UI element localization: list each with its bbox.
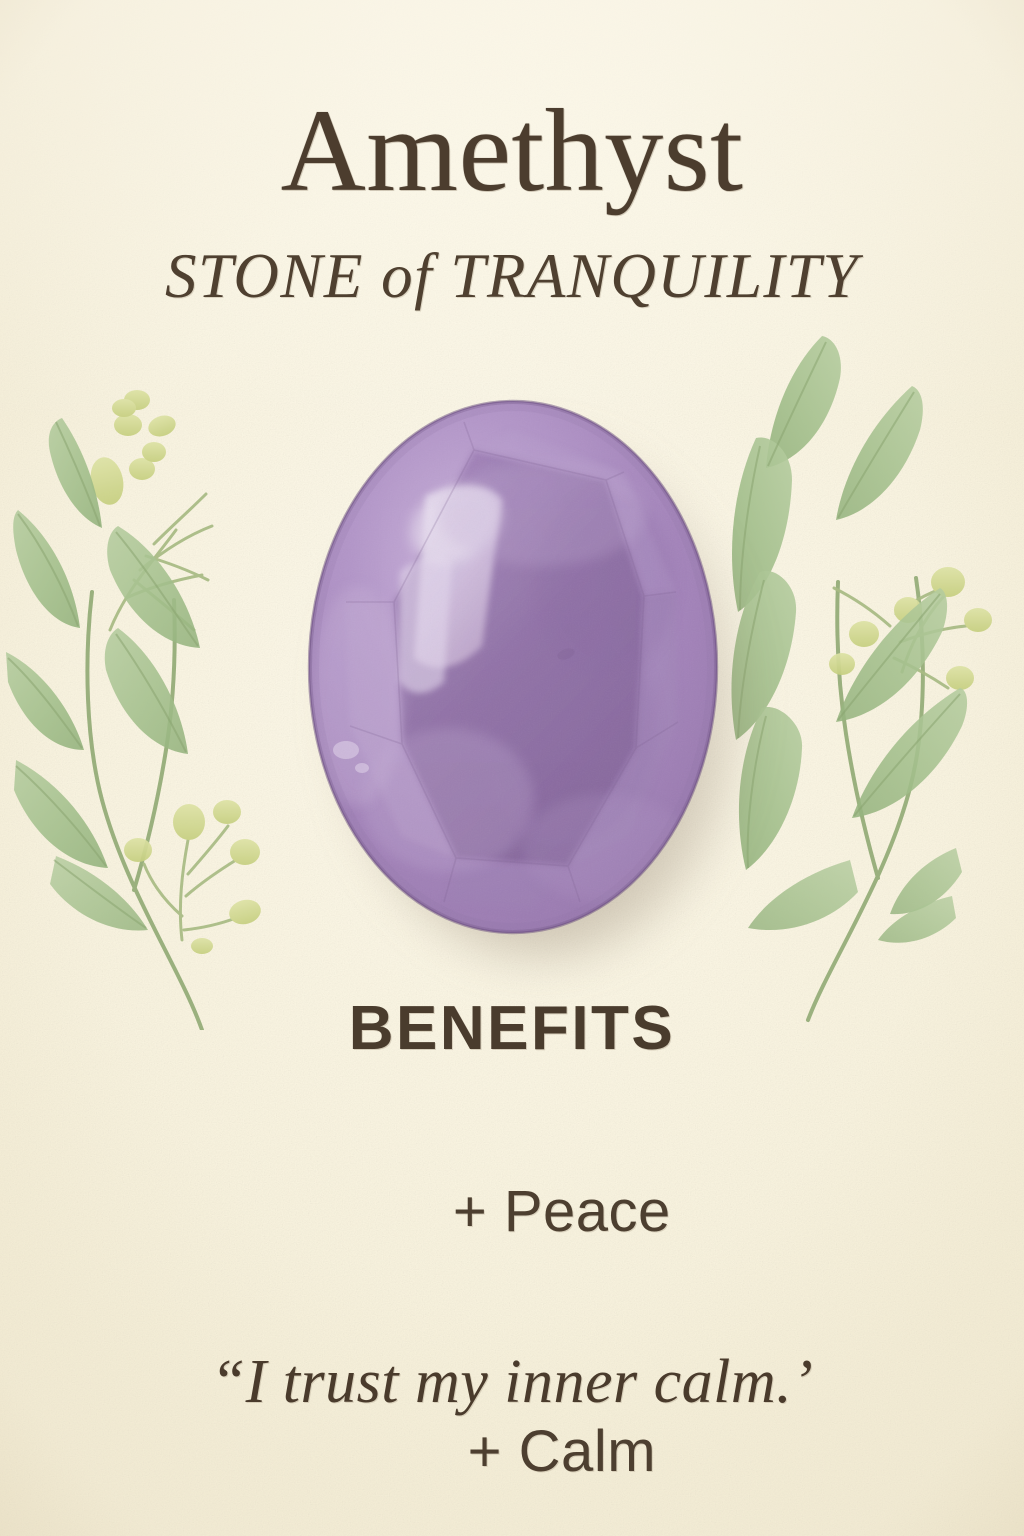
gemstone-container xyxy=(306,396,720,938)
amethyst-crystal-card: Amethyst STONE of TRANQUILITY BENEFITS +… xyxy=(0,0,1024,1536)
botanical-sprig-left-icon xyxy=(6,330,306,1030)
botanical-sprig-right-icon xyxy=(718,300,1018,1040)
benefit-marker-calm: + xyxy=(468,1419,502,1484)
card-title: Amethyst xyxy=(0,92,1024,210)
benefit-marker-peace: + xyxy=(453,1179,487,1244)
amethyst-gemstone-icon xyxy=(306,396,720,938)
card-subtitle: STONE of TRANQUILITY xyxy=(0,245,1024,308)
affirmation-quote: “I trust my inner calm.’ xyxy=(0,1350,1024,1415)
benefit-item-peace: + Peace xyxy=(0,1092,1024,1332)
benefit-label-calm: Calm xyxy=(519,1419,656,1484)
benefit-label-peace: Peace xyxy=(504,1179,671,1244)
benefits-list: + Peace + Calm + Stability xyxy=(0,1092,1024,1536)
benefits-heading: BENEFITS xyxy=(0,998,1024,1060)
